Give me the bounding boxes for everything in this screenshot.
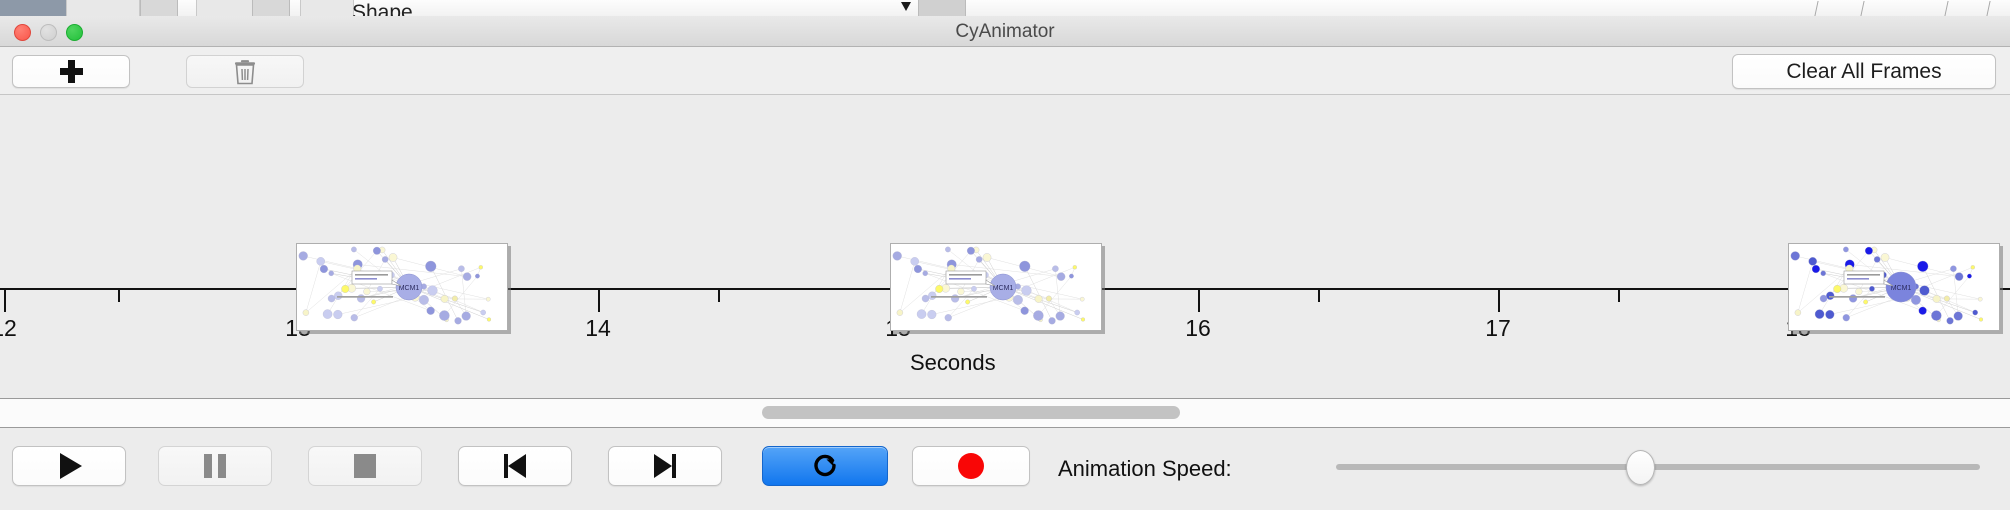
network-graph: MCM1 (297, 244, 505, 328)
network-graph: MCM1 (1789, 244, 1997, 328)
timeline-tick-16.5 (1318, 290, 1320, 302)
background-window-label: Shape (352, 1, 413, 17)
play-button[interactable] (12, 446, 126, 486)
timeline-tick-16 (1198, 290, 1200, 312)
scrollbar-thumb[interactable] (762, 406, 1180, 419)
timeline-tick-12.5 (118, 290, 120, 302)
background-chevron-1-icon (1814, 1, 1836, 16)
background-selected-tab (0, 0, 66, 16)
skip-back-button[interactable] (458, 446, 572, 486)
timeline-tick-label-12: 12 (0, 315, 17, 342)
trash-icon (234, 59, 256, 85)
background-field-2 (252, 0, 290, 16)
toolbar: Clear All Frames (0, 47, 2010, 95)
svg-text:MCM1: MCM1 (399, 285, 420, 292)
clear-all-frames-button[interactable]: Clear All Frames (1732, 54, 1996, 89)
animation-speed-slider[interactable] (1336, 464, 1980, 470)
timeline-tick-14.5 (718, 290, 720, 302)
horizontal-scrollbar[interactable] (0, 399, 2010, 428)
loop-button[interactable] (762, 446, 888, 486)
skip-forward-button[interactable] (608, 446, 722, 486)
play-icon (60, 453, 82, 479)
frame-3[interactable]: MCM1 (1788, 243, 2000, 331)
timeline-tick-label-14: 14 (585, 315, 611, 342)
skip-back-icon (504, 454, 526, 478)
stop-button[interactable] (308, 446, 422, 486)
timeline-axis-title: Seconds (910, 350, 996, 376)
timeline-tick-label-17: 17 (1485, 315, 1511, 342)
loop-icon (810, 449, 840, 484)
background-field-3 (918, 0, 966, 16)
window-title: CyAnimator (0, 21, 2010, 43)
skip-forward-icon (654, 454, 676, 478)
frame-1[interactable]: MCM1 (296, 243, 508, 331)
add-frame-button[interactable] (12, 55, 130, 88)
background-chevron-3-icon (1944, 1, 1966, 16)
background-field-1 (140, 0, 178, 16)
pause-icon (204, 454, 226, 478)
timeline-tick-12 (4, 290, 6, 312)
svg-text:MCM1: MCM1 (993, 285, 1014, 292)
plus-icon (60, 60, 83, 83)
animation-speed-slider-thumb[interactable] (1626, 450, 1655, 485)
timeline-tick-label-16: 16 (1185, 315, 1211, 342)
timeline-panel[interactable]: Seconds 12131415161718MCM1MCM1MCM1 (0, 95, 2010, 399)
player-bar: Animation Speed: (0, 428, 2010, 510)
background-tab-3 (300, 0, 354, 16)
background-tab-2 (196, 0, 254, 16)
timeline-track[interactable]: Seconds 12131415161718MCM1MCM1MCM1 (0, 95, 2010, 398)
title-bar: CyAnimator (0, 16, 2010, 47)
background-tab-1 (66, 0, 140, 16)
frame-2[interactable]: MCM1 (890, 243, 1102, 331)
record-icon (958, 453, 984, 479)
background-dropdown-arrow-icon (901, 2, 911, 11)
clear-all-frames-label: Clear All Frames (1786, 60, 1941, 84)
record-button[interactable] (912, 446, 1030, 486)
pause-button[interactable] (158, 446, 272, 486)
cyanimator-window: CyAnimator Clear All Frames Seconds 1213… (0, 16, 2010, 510)
stop-icon (354, 454, 376, 478)
timeline-tick-14 (598, 290, 600, 312)
background-chevron-2-icon (1860, 1, 1882, 16)
svg-text:MCM1: MCM1 (1891, 285, 1912, 292)
network-graph: MCM1 (891, 244, 1099, 328)
background-window-strip: Shape (0, 0, 2010, 17)
delete-frame-button[interactable] (186, 55, 304, 88)
animation-speed-label: Animation Speed: (1058, 456, 1232, 482)
timeline-tick-17.5 (1618, 290, 1620, 302)
timeline-tick-17 (1498, 290, 1500, 312)
background-chevron-4-icon (1986, 1, 2008, 16)
